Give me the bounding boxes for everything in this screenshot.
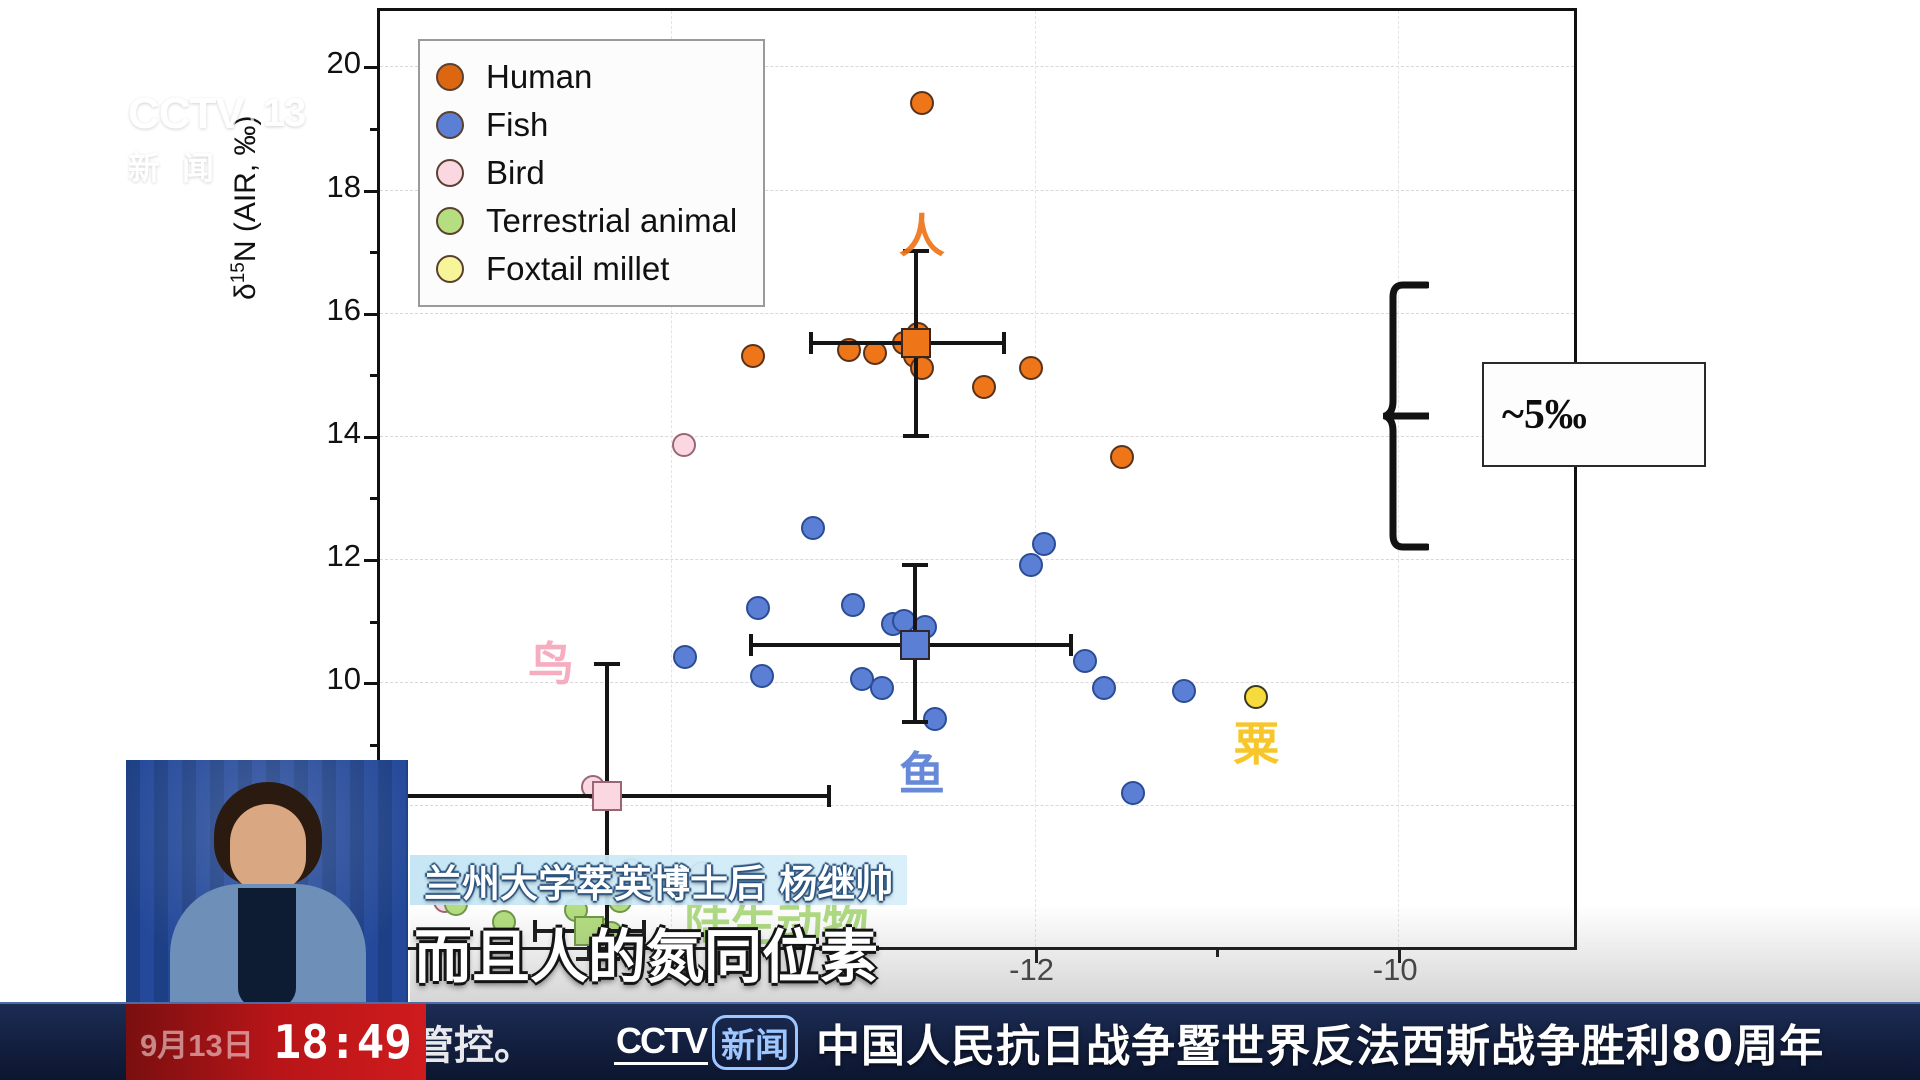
y-tick-minor <box>370 128 380 131</box>
y-gridline <box>380 805 1574 806</box>
delta-callout-box: ~5‰ <box>1482 362 1706 467</box>
y-axis-superscript: 15 <box>228 262 249 283</box>
legend-item-human[interactable]: Human <box>436 53 737 101</box>
channel-logo-text: CCTV <box>128 89 244 139</box>
ticker-brand-cn: 新闻 <box>712 1015 798 1070</box>
mean-marker-fish <box>900 630 930 660</box>
y-tick <box>364 66 380 69</box>
ticker-previous-text: 管控。 <box>414 1004 534 1080</box>
error-bar-cap <box>903 434 929 438</box>
y-tick <box>364 190 380 193</box>
data-point-fish <box>1073 649 1097 673</box>
data-point-fish <box>801 516 825 540</box>
y-tick <box>364 682 380 685</box>
error-bar-cap <box>594 662 620 666</box>
data-point-human <box>1110 445 1134 469</box>
channel-number: 13 <box>250 88 319 139</box>
data-point-fish <box>673 645 697 669</box>
channel-logo: CCTV 13 <box>128 88 318 139</box>
ticker-brand-en: CCTV <box>614 1020 708 1065</box>
data-point-fish <box>1121 781 1145 805</box>
y-tick <box>364 436 380 439</box>
y-tick-label: 14 <box>291 415 361 451</box>
error-bar-cap <box>902 563 928 567</box>
y-tick-minor <box>370 251 380 254</box>
x-gridline <box>1035 11 1036 947</box>
y-tick <box>364 313 380 316</box>
data-point-fish <box>841 593 865 617</box>
legend-item-label: Foxtail millet <box>486 250 669 288</box>
legend-item-terrestrial-animal[interactable]: Terrestrial animal <box>436 197 737 245</box>
legend-item-label: Bird <box>486 154 545 192</box>
y-tick-label: 16 <box>291 292 361 328</box>
legend-swatch-icon <box>436 207 464 235</box>
y-tick-label: 10 <box>291 661 361 697</box>
brace-icon <box>1383 281 1429 551</box>
y-gridline <box>380 559 1574 560</box>
legend-item-bird[interactable]: Bird <box>436 149 737 197</box>
y-tick <box>364 559 380 562</box>
y-tick-label: 12 <box>291 538 361 574</box>
y-axis-delta: δ <box>229 283 262 300</box>
mean-marker-bird <box>592 781 622 811</box>
cn-label-foxtail-millet: 粟 <box>1233 708 1279 774</box>
chart-legend: HumanFishBirdTerrestrial animalFoxtail m… <box>418 39 765 307</box>
mean-marker-human <box>901 328 931 358</box>
legend-item-label: Fish <box>486 106 548 144</box>
data-point-fish <box>750 664 774 688</box>
date-time-block: 9月13日 18:49 <box>126 1004 426 1080</box>
legend-item-fish[interactable]: Fish <box>436 101 737 149</box>
callout-text: ~5‰ <box>1502 391 1587 439</box>
cn-label-human: 人 <box>899 200 945 266</box>
legend-swatch-icon <box>436 63 464 91</box>
data-point-fish <box>870 676 894 700</box>
y-tick-minor <box>370 744 380 747</box>
error-bar-cap <box>809 332 813 354</box>
legend-swatch-icon <box>436 255 464 283</box>
channel-watermark: CCTV 13 新闻 <box>128 88 318 189</box>
speaker-credit-text: 兰州大学萃英博士后 杨继帅 <box>424 853 893 908</box>
y-tick-minor <box>370 374 380 377</box>
anchor-shirt <box>238 888 296 1008</box>
anchor-face <box>230 804 306 892</box>
error-bar-cap <box>827 785 831 807</box>
data-point-fish <box>923 707 947 731</box>
speaker-credit-bar: 兰州大学萃英博士后 杨继帅 <box>410 855 907 905</box>
subtitle-text: 而且人的氮同位素 <box>414 910 878 994</box>
clock-text: 18:49 <box>274 1015 412 1069</box>
data-point-fish <box>1019 553 1043 577</box>
error-bar-cap <box>749 634 753 656</box>
ticker-headline: 中国人民抗日战争暨世界反法西斯战争胜利80周年 <box>816 1010 1824 1074</box>
data-point-fish <box>1032 532 1056 556</box>
data-point-fish <box>746 596 770 620</box>
y-tick-minor <box>370 497 380 500</box>
data-point-fish <box>1092 676 1116 700</box>
data-point-foxtail-millet <box>1244 685 1268 709</box>
ticker-brand: CCTV 新闻 <box>614 1015 798 1070</box>
cn-label-bird: 鸟 <box>528 628 574 694</box>
legend-swatch-icon <box>436 159 464 187</box>
error-bar-cap <box>902 720 928 724</box>
data-point-human <box>972 375 996 399</box>
legend-item-foxtail-millet[interactable]: Foxtail millet <box>436 245 737 293</box>
y-tick-label: 20 <box>291 45 361 81</box>
channel-subtitle: 新闻 <box>128 143 318 189</box>
error-bar-cap <box>1002 332 1006 354</box>
data-point-human <box>741 344 765 368</box>
error-bar-cap <box>1069 634 1073 656</box>
legend-item-label: Terrestrial animal <box>486 202 737 240</box>
legend-item-label: Human <box>486 58 592 96</box>
data-point-bird <box>672 433 696 457</box>
legend-swatch-icon <box>436 111 464 139</box>
date-text: 9月13日 <box>140 1020 254 1065</box>
data-point-human <box>1019 356 1043 380</box>
cn-label-fish: 鱼 <box>899 738 945 804</box>
y-tick-minor <box>370 621 380 624</box>
data-point-human <box>910 91 934 115</box>
data-point-fish <box>1172 679 1196 703</box>
